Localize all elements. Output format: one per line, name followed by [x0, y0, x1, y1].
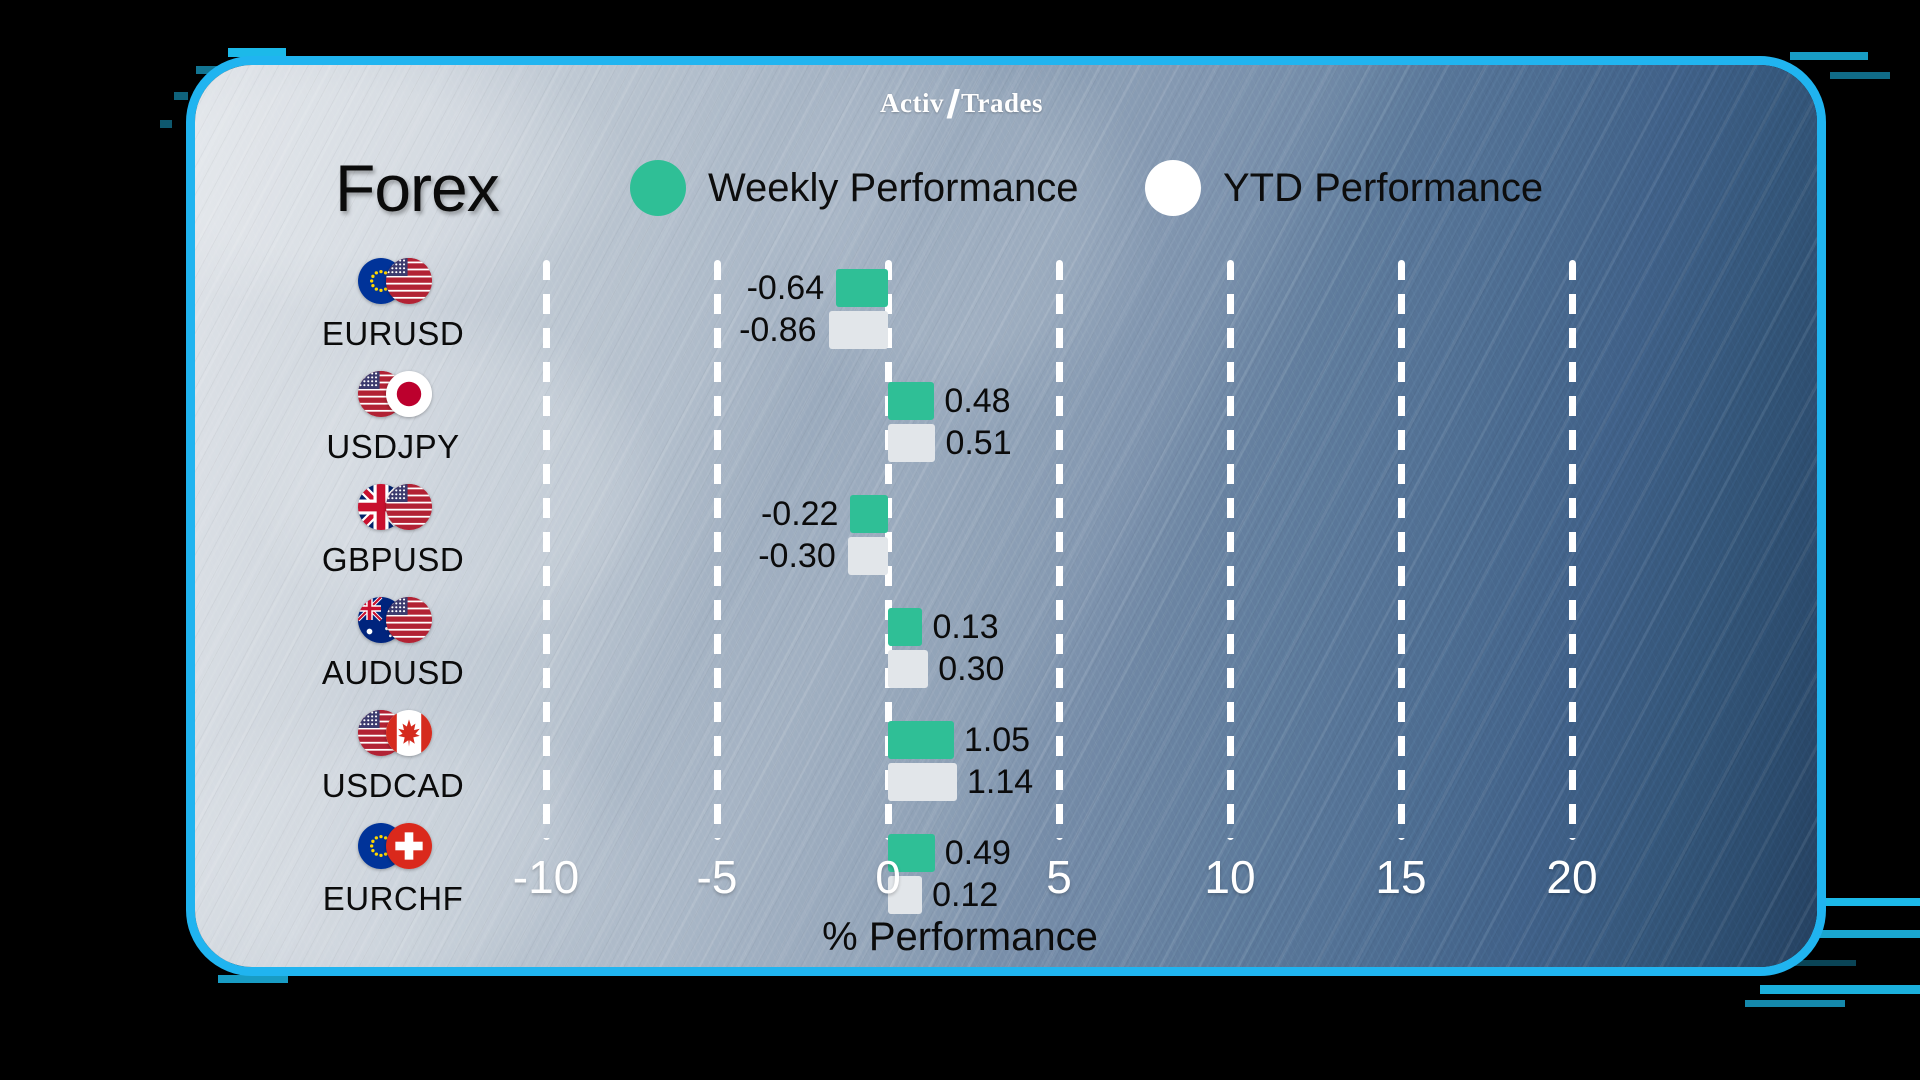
pair-name: EURUSD — [300, 315, 486, 353]
value-label-week-usdjpy: 0.48 — [944, 382, 1010, 420]
flag-jp-icon — [386, 371, 432, 417]
value-label-week-audusd: 0.13 — [932, 608, 998, 646]
bar-ytd-usdcad[interactable] — [888, 763, 957, 801]
edge-artifact — [160, 120, 172, 128]
flag-us-icon — [386, 484, 432, 530]
x-tick-0: 0 — [875, 850, 901, 904]
bar-week-eurusd[interactable] — [836, 269, 888, 307]
pair-name: AUDUSD — [300, 654, 486, 692]
edge-artifact — [1790, 52, 1868, 60]
bar-week-audusd[interactable] — [888, 608, 922, 646]
value-label-week-eurusd: -0.64 — [747, 269, 825, 307]
edge-artifact — [218, 975, 288, 983]
pair-name: USDCAD — [300, 767, 486, 805]
value-label-ytd-gbpusd: -0.30 — [758, 537, 836, 575]
value-label-ytd-audusd: 0.30 — [938, 650, 1004, 688]
chart-row: USDJPY0.480.51 — [0, 368, 1920, 468]
flag-pair — [300, 481, 486, 537]
circle-marker-ytd — [1145, 160, 1201, 216]
pair-label-group-usdcad[interactable]: USDCAD — [300, 707, 486, 805]
value-label-ytd-usdcad: 1.14 — [967, 763, 1033, 801]
value-label-week-usdcad: 1.05 — [964, 721, 1030, 759]
chart-row: EURUSD-0.64-0.86 — [0, 255, 1920, 355]
edge-artifact — [1830, 72, 1890, 79]
bar-ytd-audusd[interactable] — [888, 650, 928, 688]
chart-row: GBPUSD-0.22-0.30 — [0, 481, 1920, 581]
bar-ytd-eurusd[interactable] — [829, 311, 888, 349]
pair-label-group-usdjpy[interactable]: USDJPY — [300, 368, 486, 466]
activtrades-logo: Activ Trades — [880, 88, 1043, 119]
x-tick--10: -10 — [513, 850, 579, 904]
flag-pair — [300, 594, 486, 650]
legend-item-weekly[interactable]: Weekly Performance — [630, 160, 1079, 216]
flag-pair — [300, 368, 486, 424]
circle-marker-weekly — [630, 160, 686, 216]
flag-ch-icon — [386, 823, 432, 869]
pair-name: USDJPY — [300, 428, 486, 466]
chart-plot-area: EURUSD-0.64-0.86 USDJPY0.480.51 GBPUSD-0… — [0, 250, 1920, 850]
value-label-week-gbpusd: -0.22 — [761, 495, 839, 533]
bar-ytd-gbpusd[interactable] — [848, 537, 888, 575]
flag-us-icon — [386, 258, 432, 304]
legend-item-ytd[interactable]: YTD Performance — [1145, 160, 1543, 216]
bar-week-gbpusd[interactable] — [850, 495, 888, 533]
bar-week-usdcad[interactable] — [888, 721, 954, 759]
page-title: Forex — [335, 150, 499, 226]
legend-label-weekly: Weekly Performance — [708, 166, 1079, 211]
x-tick-15: 15 — [1375, 850, 1426, 904]
logo-text-part2: Trades — [961, 88, 1043, 119]
edge-artifact — [1760, 985, 1920, 994]
flag-ca-icon — [386, 710, 432, 756]
flag-us-icon — [386, 597, 432, 643]
logo-text-part1: Activ — [880, 88, 944, 119]
chart-row: USDCAD1.051.14 — [0, 707, 1920, 807]
pair-label-group-audusd[interactable]: AUDUSD — [300, 594, 486, 692]
x-tick-10: 10 — [1204, 850, 1255, 904]
x-axis-label: % Performance — [0, 915, 1920, 960]
value-label-ytd-usdjpy: 0.51 — [945, 424, 1011, 462]
screenshot-root: Activ Trades Forex Weekly Performance YT… — [0, 0, 1920, 1080]
pair-label-group-eurusd[interactable]: EURUSD — [300, 255, 486, 353]
x-tick-20: 20 — [1546, 850, 1597, 904]
edge-artifact — [174, 92, 188, 100]
value-label-ytd-eurusd: -0.86 — [739, 311, 817, 349]
x-tick-5: 5 — [1046, 850, 1072, 904]
pair-name: GBPUSD — [300, 541, 486, 579]
flag-pair — [300, 255, 486, 311]
pair-label-group-gbpusd[interactable]: GBPUSD — [300, 481, 486, 579]
bar-week-usdjpy[interactable] — [888, 382, 934, 420]
chart-row: AUDUSD0.130.30 — [0, 594, 1920, 694]
legend-label-ytd: YTD Performance — [1223, 166, 1543, 211]
x-axis: -10-505101520 — [0, 850, 1920, 920]
flag-pair — [300, 707, 486, 763]
bar-ytd-usdjpy[interactable] — [888, 424, 935, 462]
slash-icon — [946, 89, 960, 119]
x-tick--5: -5 — [697, 850, 738, 904]
edge-artifact — [1745, 1000, 1845, 1007]
